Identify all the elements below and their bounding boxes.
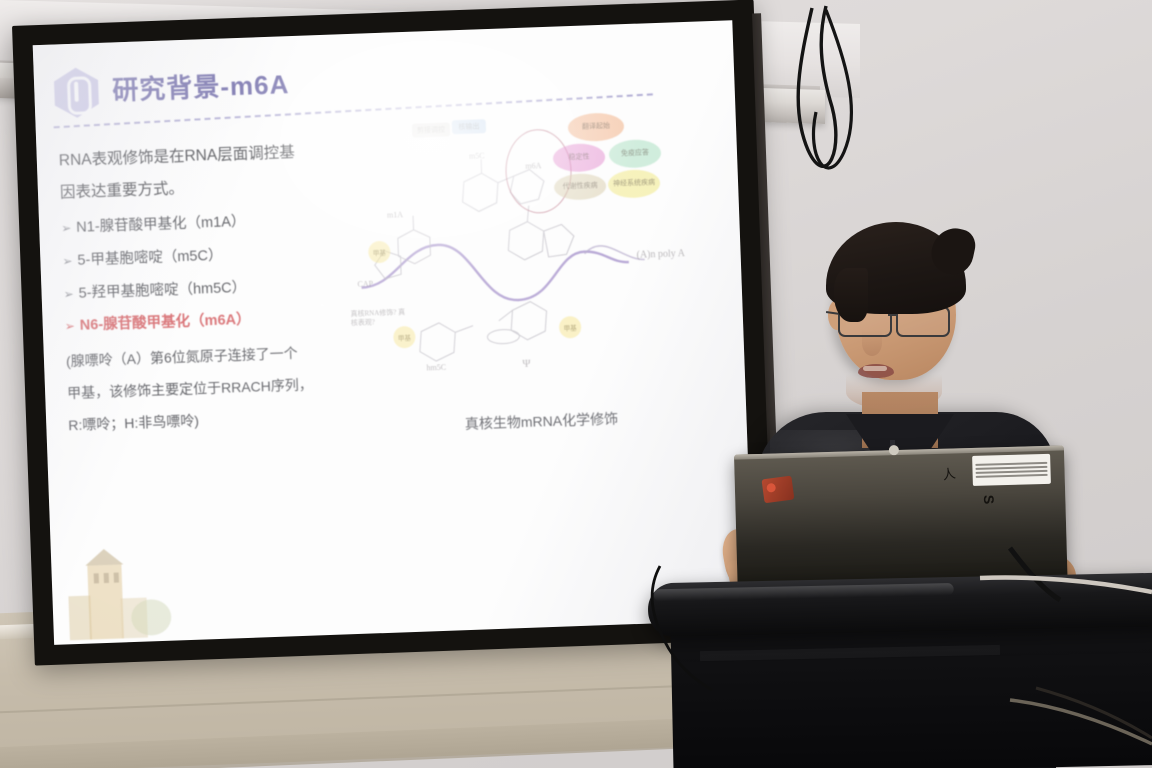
- presenter-mouth: [858, 364, 894, 378]
- bullet-arrow-icon: ➢: [63, 287, 74, 301]
- slide-bullet-list: ➢N1-腺苷酸甲基化（m1A） ➢5-甲基胞嘧啶（m5C） ➢5-羟甲基胞嘧啶（…: [61, 202, 365, 343]
- bullet-arrow-icon: ➢: [65, 319, 76, 333]
- cap-label: CAP: [357, 279, 373, 289]
- bullet-label: N6-腺苷酸甲基化（m6A）: [80, 312, 251, 334]
- slide-note-line-3: R:嘌呤；H:非鸟嘌呤): [68, 400, 369, 439]
- bullet-arrow-icon: ➢: [61, 221, 72, 235]
- molecule-label-m5C: m5C: [469, 151, 485, 161]
- bullet-label: 5-羟甲基胞嘧啶（hm5C）: [78, 279, 246, 301]
- lectern-top: [647, 573, 1152, 638]
- polya-label: (A)n poly A: [636, 248, 685, 261]
- slide-body-column: RNA表观修饰是在RNA层面调控基 因表达重要方式。 ➢N1-腺苷酸甲基化（m1…: [58, 136, 368, 439]
- bubble-tag: 剪接调控: [412, 122, 450, 137]
- bullet-arrow-icon: ➢: [62, 254, 73, 268]
- bullet-label: N1-腺苷酸甲基化（m1A）: [76, 214, 246, 236]
- handwritten-mark: 人: [941, 460, 971, 488]
- molecule-label-psi: Ψ: [522, 358, 531, 370]
- white-asset-tag-label: [972, 454, 1051, 486]
- campus-building-watermark-icon: [57, 540, 180, 640]
- molecule-label-hm5C: hm5C: [426, 363, 446, 373]
- red-logo-sticker-icon: [762, 476, 795, 504]
- photo-scene: 研究背景-m6A RNA表观修饰是在RNA层面调控基 因表达重要方式。 ➢N1-…: [0, 0, 1152, 768]
- presenter-chin: [846, 374, 942, 410]
- molecule-label-m1A: m1A: [387, 210, 403, 220]
- university-seal-logo-icon: [54, 67, 100, 119]
- mrna-modification-figure: 剪接调控 核输出 翻译起始 稳定性 免疫应答 代谢性疾病 神经系统疾病 甲基 甲…: [356, 107, 718, 409]
- slide-title: 研究背景-m6A: [112, 64, 290, 107]
- figure-question-label: 真核RNA修饰? 真核表观?: [350, 308, 407, 328]
- bullet-label: 5-甲基胞嘧啶（m5C）: [77, 248, 222, 269]
- bubble-tag: 核输出: [452, 119, 486, 134]
- screen-surface: 研究背景-m6A RNA表观修饰是在RNA层面调控基 因表达重要方式。 ➢N1-…: [33, 20, 754, 645]
- molecule-label-m6A: m6A: [525, 161, 541, 171]
- handwritten-s-mark: S: [981, 495, 997, 505]
- lectern-body: [670, 615, 1152, 768]
- molecule-psi: [486, 301, 547, 344]
- molecule-hm5C: [419, 322, 474, 362]
- figure-caption: 真核生物mRNA化学修饰: [376, 405, 707, 437]
